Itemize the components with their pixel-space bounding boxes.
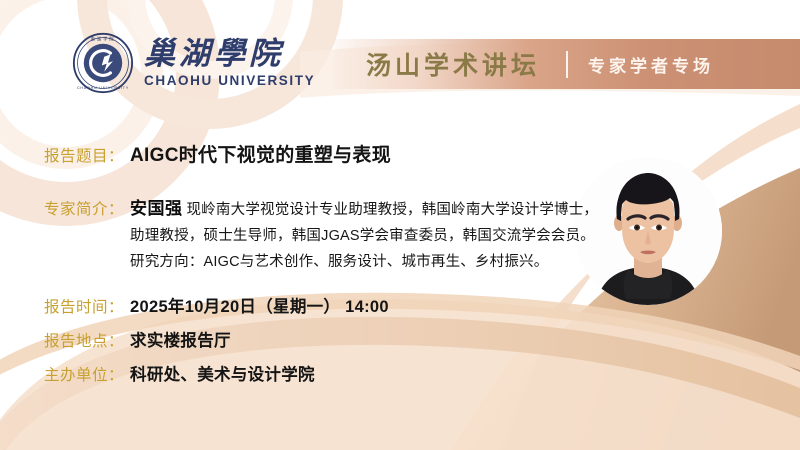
topic-row: 报告题目： AIGC时代下视觉的重塑与表现	[44, 140, 391, 167]
place-value: 求实楼报告厅	[130, 327, 231, 351]
speaker-row: 专家简介： 安国强现岭南大学视觉设计专业助理教授，韩国岭南大学设计学博士， 助理…	[44, 196, 598, 275]
speaker-bio-text-1: 现岭南大学视觉设计专业助理教授，韩国岭南大学设计学博士，	[187, 202, 599, 218]
time-value: 2025年10月20日（星期一） 14:00	[130, 293, 389, 317]
host-row: 主办单位： 科研处、美术与设计学院	[44, 361, 315, 385]
speaker-name: 安国强	[130, 199, 183, 218]
host-label: 主办单位：	[44, 363, 124, 385]
speaker-bio-line-3: 研究方向：AIGC与艺术创作、服务设计、城市再生、乡村振兴。	[130, 249, 598, 275]
speaker-bio: 安国强现岭南大学视觉设计专业助理教授，韩国岭南大学设计学博士， 助理教授，硕士生…	[130, 196, 598, 275]
topic-label: 报告题目：	[44, 144, 124, 166]
place-row: 报告地点： 求实楼报告厅	[44, 327, 231, 351]
time-label: 报告时间：	[44, 295, 124, 317]
poster-content: 报告题目： AIGC时代下视觉的重塑与表现 专家简介： 安国强现岭南大学视觉设计…	[0, 0, 800, 450]
topic-value: AIGC时代下视觉的重塑与表现	[130, 140, 391, 167]
place-label: 报告地点：	[44, 329, 124, 351]
time-row: 报告时间： 2025年10月20日（星期一） 14:00	[44, 293, 389, 317]
speaker-bio-line-2: 助理教授，硕士生导师，韩国JGAS学会审查委员，韩国交流学会会员。	[130, 223, 598, 249]
speaker-bio-line-1: 安国强现岭南大学视觉设计专业助理教授，韩国岭南大学设计学博士，	[130, 196, 598, 223]
seminar-poster: 巢湖学院 CHAOHU UNIVERSITY 巢湖學院 CHAOHU UNIVE…	[0, 0, 800, 450]
host-value: 科研处、美术与设计学院	[130, 361, 315, 385]
speaker-label: 专家简介：	[44, 197, 124, 219]
